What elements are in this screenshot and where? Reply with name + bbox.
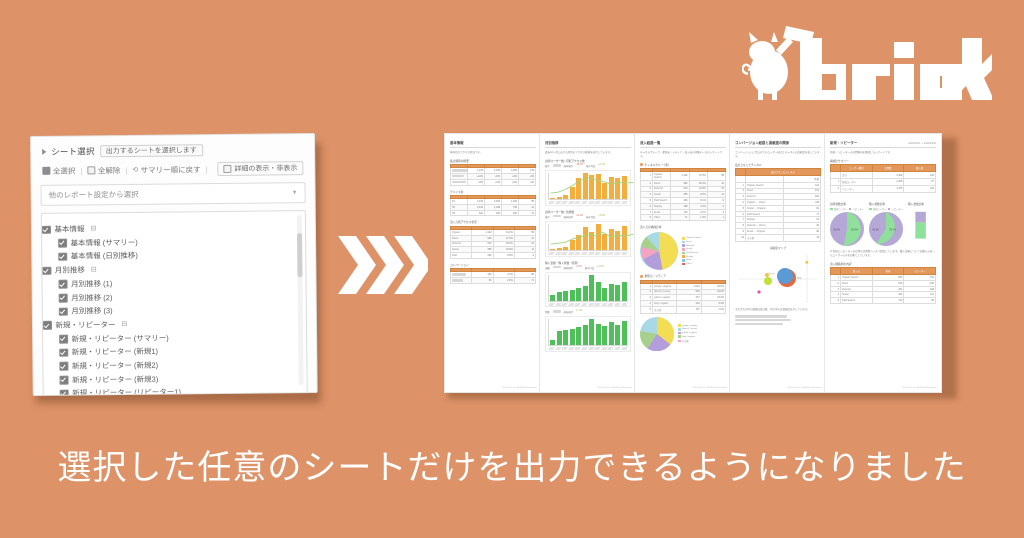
page-title: 月別推移 bbox=[545, 140, 559, 145]
svg-text:39.5%: 39.5% bbox=[833, 229, 841, 232]
svg-text:60.5%: 60.5% bbox=[851, 229, 859, 232]
legend-label: yahoo / organic bbox=[682, 332, 697, 334]
trend-line bbox=[549, 227, 637, 245]
cell: 2.8% bbox=[493, 278, 514, 284]
tree-checkbox[interactable] bbox=[58, 253, 67, 262]
cell: 1,375 bbox=[872, 185, 904, 192]
checkbox-empty-icon-2 bbox=[223, 165, 231, 173]
section-label: 貢献度マップ bbox=[735, 246, 821, 250]
report-page-3[interactable]: 流入経路一覧 チャネルグループ・参照元／メディア・流入元の詳細データのレポートで… bbox=[634, 133, 732, 393]
page-footer: 2022 brick Inc. All Rights Reserved. bbox=[902, 387, 937, 389]
checkbox-checked-icon bbox=[42, 167, 50, 175]
listbox-scrollbar-thumb[interactable] bbox=[297, 233, 302, 277]
tree-item-label: 新規・リピーター bbox=[55, 321, 115, 329]
tree-item-label: 新規・リピーター (新規2) bbox=[72, 362, 158, 370]
chart-channel-pie: Organic Search Direct Referral Social Pa… bbox=[640, 232, 726, 270]
section-label: 接点となったチャネル bbox=[735, 163, 821, 167]
bullet-dot-icon bbox=[640, 275, 643, 278]
pie-chart: 59.7% 40.3% bbox=[869, 212, 903, 246]
th: 接点となったチャネル bbox=[746, 169, 821, 176]
legend-item: Display bbox=[682, 255, 701, 258]
legend-label: Email bbox=[686, 259, 691, 261]
cell: 5 bbox=[641, 306, 653, 313]
legend-label: 新規ユーザー bbox=[834, 207, 847, 211]
cell: 1 bbox=[707, 215, 725, 221]
cell: 620 bbox=[468, 210, 485, 216]
cell: 12 bbox=[519, 210, 536, 216]
brick-logo bbox=[742, 22, 992, 114]
pie-chart bbox=[640, 317, 674, 351]
cell: 157 bbox=[677, 306, 701, 313]
legend-label: Paid Search bbox=[686, 252, 698, 254]
chart-monthly-new-users bbox=[545, 221, 631, 256]
chevron-down-icon: ▼ bbox=[292, 190, 298, 196]
chart-note: ※ 新規とリピーターの比率は訪問数ベースで算出しています。購入金額については購入… bbox=[830, 250, 936, 258]
th bbox=[831, 268, 841, 275]
page-lead: コンバージョンに至るまでのユーザー接点とチャネルの貢献度を表しています。 bbox=[735, 151, 821, 159]
tree-item-label: 月別推移 (3) bbox=[71, 307, 112, 315]
section-label: デバイス別 bbox=[450, 190, 536, 194]
data-table: 1203.4%88 962.8%71 bbox=[450, 268, 536, 284]
chart-buyer-ratio: 購入者数比率 新規ユーザーリピーター 59.7% 40.3% bbox=[869, 198, 904, 248]
tree-item-label: 月別推移 (1) bbox=[71, 280, 112, 288]
cell: 1 bbox=[831, 179, 841, 186]
legend-item: Social bbox=[682, 248, 701, 251]
legend-label: リピーター bbox=[892, 207, 903, 211]
section-label: 参照元／メディア bbox=[640, 274, 726, 278]
collapse-icon[interactable]: ⊟ bbox=[90, 226, 96, 233]
table-row: 件数 bbox=[736, 176, 821, 183]
legend-item: bing / organic bbox=[678, 335, 698, 338]
tree-item-label: 月別推移 bbox=[55, 267, 85, 275]
svg-text:59.7%: 59.7% bbox=[889, 229, 897, 232]
bullet-dot-icon bbox=[640, 163, 643, 166]
report-page-2[interactable]: 月別推移 過去12ヶ月における月別のアクセス推移を表示しています。 訪問ユーザー… bbox=[539, 133, 637, 393]
cell: 新規ユーザー bbox=[841, 179, 873, 186]
table-row: 合計3,480216 bbox=[831, 172, 936, 179]
data-table: Organic1,12234.2%58 Direct90527.6%41 Ref… bbox=[450, 226, 536, 259]
cell bbox=[451, 179, 468, 185]
tree-item-label: 基本情報 (サマリー) bbox=[71, 239, 138, 247]
collapse-icon[interactable]: ⊟ bbox=[91, 267, 97, 274]
cell: 8 bbox=[641, 215, 653, 221]
section-label: 集計期間の概要 bbox=[450, 159, 536, 163]
tree-item-label: 新規・リピーター (サマリー) bbox=[72, 334, 169, 343]
note-row bbox=[735, 319, 821, 321]
data-table: PC3,2102,0041,00355 SP2,1101,24574231 TB… bbox=[450, 195, 536, 216]
tree-checkbox[interactable] bbox=[60, 389, 69, 396]
chart-kpi-row: 前月前年同月-31.2%前々月比+4.5% bbox=[545, 215, 631, 219]
trend-line bbox=[549, 176, 637, 194]
section-label: コンバージョン bbox=[450, 263, 536, 267]
legend-item: Other bbox=[682, 263, 701, 266]
table-row: 10その他19 bbox=[736, 234, 821, 241]
tree-checkbox[interactable] bbox=[59, 348, 68, 357]
section-label: 購入金額・購入件数（月別） bbox=[545, 261, 631, 265]
section-label: 購入者数比率 bbox=[869, 202, 904, 206]
report-page-1[interactable]: 基本情報 基本的なアクセス状況です。 集計期間の概要 1,2342,3453,4… bbox=[444, 133, 542, 393]
svg-text:CVR 70%: CVR 70% bbox=[791, 277, 802, 280]
reset-order-link[interactable]: ⟳ サマリー順に戻す bbox=[132, 164, 200, 176]
legend-item: その他 bbox=[678, 339, 698, 343]
chart-contribution-bubble: CVR 70% Direct bbox=[735, 253, 821, 305]
page-header: 流入経路一覧 bbox=[640, 140, 726, 148]
tree-item-label: 基本情報 bbox=[54, 226, 84, 234]
report-preset-value: 他のレポート設定から選択 bbox=[49, 189, 139, 201]
th: 訪問数 bbox=[872, 165, 904, 172]
cell bbox=[831, 172, 841, 179]
note-row bbox=[735, 323, 821, 325]
deselect-all-label: 全解除 bbox=[98, 165, 121, 176]
note-row bbox=[735, 315, 821, 317]
chart-amount-ratio: 購入金額比率 bbox=[908, 198, 936, 248]
sheet-tree-listbox[interactable]: 基本情報 ⊟ 基本情報 (サマリー) 基本情報 (日別推移) 月別推移 bbox=[41, 210, 308, 396]
section-label: チャネルグループ別 bbox=[640, 163, 726, 167]
data-table: 流入元新規リピーター 1Organic Search862510 2Direct… bbox=[830, 267, 936, 304]
page-title: 新規・リピーター bbox=[830, 140, 857, 145]
chart-note: それぞれの円の面積は接点数、円の中心は貢献度を示しています。 bbox=[735, 308, 821, 312]
legend-item: (direct) / (none) bbox=[678, 328, 698, 331]
table-row: +5%+6%+9%-1% bbox=[451, 179, 536, 185]
section-label: 流入元別アクセス状況 bbox=[450, 220, 536, 224]
deselect-all-link[interactable]: 全解除 bbox=[87, 165, 120, 176]
collapse-icon[interactable]: ⊟ bbox=[121, 321, 127, 328]
data-table: 1Organic Search1,12237.5%58 2Direct90526… bbox=[640, 168, 726, 221]
th: 購入数 bbox=[904, 165, 936, 172]
tree-checkbox[interactable] bbox=[58, 239, 67, 248]
table-row: TB62033018012 bbox=[451, 210, 536, 216]
th: ユーザー種別 bbox=[841, 165, 873, 172]
cell: 71 bbox=[514, 278, 535, 284]
page-header: 月別推移 bbox=[545, 140, 631, 148]
cell: 3,480 bbox=[872, 172, 904, 179]
bar-plot bbox=[548, 275, 628, 302]
page-title: コンバージョン経路と貢献度の関係 bbox=[735, 140, 789, 145]
legend-item: Referral bbox=[682, 244, 701, 247]
panel-title-pill: 出力するシートを選択します bbox=[100, 144, 203, 157]
pie-chart bbox=[640, 232, 678, 270]
page-header: コンバージョン経路と貢献度の関係 bbox=[735, 140, 821, 148]
bar-plot bbox=[548, 319, 628, 346]
cell: 5 bbox=[831, 298, 841, 304]
section-label: 訪問ユーザー数 / 月別アクセス数 bbox=[545, 159, 631, 163]
cell: 87 bbox=[904, 179, 936, 186]
page-header: 新規・リピーター 2022/04/01 〜 2022/04/30 bbox=[830, 140, 936, 148]
select-all-link[interactable]: 全選択 bbox=[42, 165, 75, 176]
pie-chart-row: 訪問者数比率 新規ユーザーリピーター 60.5% 39.5% 購入者数比率 新規… bbox=[830, 198, 936, 248]
tree-checkbox[interactable] bbox=[42, 266, 51, 275]
x-axis-ticks bbox=[548, 346, 628, 349]
page-date-range: 2022/04/01 〜 2022/04/30 bbox=[908, 141, 936, 145]
cell: Organic Search bbox=[653, 172, 671, 181]
tree-item-label: 月別推移 (2) bbox=[71, 294, 112, 302]
sheet-selection-card: シート選択 出力するシートを選択します 全選択 | 全解除 | ⟳ bbox=[30, 133, 318, 396]
cell: 8.8% bbox=[493, 253, 514, 259]
cell bbox=[736, 176, 746, 183]
th: 新規 bbox=[872, 268, 904, 275]
bar-plot bbox=[548, 224, 628, 251]
cell: 1,122 bbox=[671, 172, 689, 181]
cell: 180 bbox=[502, 210, 519, 216]
legend-item: google / organic bbox=[678, 324, 698, 327]
page-lead: 過去12ヶ月における月別のアクセス推移を表示しています。 bbox=[545, 151, 631, 155]
cell: 290 bbox=[472, 253, 493, 259]
section-label: 訪問ユーザー数 / 新規数 bbox=[545, 210, 631, 214]
cell: 9 bbox=[514, 253, 535, 259]
bullet-icon bbox=[42, 149, 46, 155]
bar-plot bbox=[548, 173, 628, 200]
table-row: 5Paid Search17096 bbox=[831, 298, 936, 304]
tree-checkbox[interactable] bbox=[59, 362, 68, 371]
legend-label: Direct bbox=[686, 241, 692, 243]
slide-caption: 選択した任意のシートだけを出力できるようになりました bbox=[0, 440, 1024, 489]
cell: Other bbox=[653, 215, 671, 221]
legend-label: リピーター bbox=[853, 207, 864, 211]
report-page-5[interactable]: 新規・リピーター 2022/04/01 〜 2022/04/30 新規／リピータ… bbox=[824, 133, 942, 393]
svg-text:40.3%: 40.3% bbox=[872, 229, 880, 232]
table-row: 8Other711.3%1 bbox=[641, 215, 726, 221]
chart-kpi-row: 金額前年同月-2.8%前々月比+3.9% bbox=[545, 266, 631, 270]
th: リピーター bbox=[904, 268, 936, 275]
select-all-label: 全選択 bbox=[53, 165, 76, 176]
tree-checkbox[interactable] bbox=[60, 376, 69, 385]
cell bbox=[451, 278, 472, 284]
cell: +5% bbox=[468, 179, 485, 185]
x-axis-ticks bbox=[548, 200, 628, 203]
legend-label: Referral bbox=[686, 245, 694, 247]
x-axis-ticks bbox=[548, 302, 628, 305]
tree-item-label: 新規・リピーター (新規1) bbox=[72, 348, 158, 356]
legend-label: google / organic bbox=[682, 325, 698, 327]
tree-checkbox[interactable] bbox=[42, 225, 51, 234]
tree-checkbox[interactable] bbox=[59, 294, 68, 303]
table-row: 962.8%71 bbox=[451, 278, 536, 284]
legend-item: Email bbox=[682, 259, 701, 262]
data-table: 1google / organic1,01045.0% 2(direct) / … bbox=[640, 280, 726, 314]
cell: 19 bbox=[783, 234, 821, 241]
legend-label: (direct) / (none) bbox=[682, 328, 697, 330]
tree-checkbox[interactable] bbox=[59, 335, 68, 344]
legend-label: Organic Search bbox=[686, 237, 701, 239]
cell: 96 bbox=[904, 298, 936, 304]
th: 流入元 bbox=[841, 268, 873, 275]
cell: 170 bbox=[872, 298, 904, 304]
pie-legend: 新規ユーザーリピーター bbox=[830, 207, 865, 211]
report-pages-stack: 基本情報 基本的なアクセス状況です。 集計期間の概要 1,2342,3453,4… bbox=[444, 133, 954, 395]
chart-monthly-access bbox=[545, 170, 631, 205]
svg-text:Direct: Direct bbox=[769, 272, 775, 275]
legend-label: bing / organic bbox=[682, 336, 695, 338]
slide-stage: シート選択 出力するシートを選択します 全選択 | 全解除 | ⟳ bbox=[0, 0, 1024, 538]
pie-chart: 60.5% 39.5% bbox=[830, 212, 864, 246]
legend-item: Organic Search bbox=[682, 237, 701, 240]
legend-label: Social bbox=[686, 248, 692, 250]
toggle-detail-button[interactable]: 詳細の表示・非表示 bbox=[217, 161, 303, 176]
cell: TB bbox=[451, 210, 468, 216]
toggle-detail-label: 詳細の表示・非表示 bbox=[234, 165, 297, 173]
page-footer: 2022 brick Inc. All Rights Reserved. bbox=[787, 387, 822, 389]
cell: 96 bbox=[472, 278, 493, 284]
stacked-bar-chart bbox=[908, 207, 934, 241]
tree-checkbox[interactable] bbox=[59, 280, 68, 289]
legend-item: Direct bbox=[682, 241, 701, 244]
cell: その他 bbox=[653, 306, 677, 313]
chart-visitor-ratio: 訪問者数比率 新規ユーザーリピーター 60.5% 39.5% bbox=[830, 198, 865, 248]
table-row: 2リピーター1,375129 bbox=[831, 185, 936, 192]
tree-item-label: 新規・リピーター (新規3) bbox=[72, 375, 158, 383]
panel-title: シート選択 bbox=[51, 145, 95, 157]
cell: 1.3% bbox=[689, 215, 707, 221]
pie-legend: google / organic (direct) / (none) yahoo… bbox=[678, 324, 698, 343]
reset-order-label: サマリー順に戻す bbox=[141, 164, 201, 176]
page-footer: 2022 brick Inc. All Rights Reserved. bbox=[692, 387, 727, 389]
pie-legend: Organic Search Direct Referral Social Pa… bbox=[682, 237, 701, 265]
bubble-chart: CVR 70% Direct bbox=[735, 253, 821, 305]
chart-kpi-row: 前月前年同月-18.3%前々月比+6.1% bbox=[545, 164, 631, 168]
report-preset-select[interactable]: 他のレポート設定から選択 ▼ bbox=[41, 182, 306, 206]
checkbox-empty-icon bbox=[87, 166, 95, 174]
page-footer: 2022 brick Inc. All Rights Reserved. bbox=[502, 387, 537, 389]
section-label: 訪問者数比率 bbox=[830, 202, 865, 206]
table-row: 1Organic Search1,12237.5%58 bbox=[641, 172, 726, 181]
page-lead: チャネルグループ・参照元／メディア・流入元の詳細データのレポートです。 bbox=[640, 151, 726, 159]
legend-item: yahoo / organic bbox=[678, 332, 698, 335]
legend-label: Display bbox=[686, 256, 693, 258]
data-table: 1,2342,3453,456145 +12%+8%+4%-2% +5%+6%+… bbox=[450, 164, 536, 185]
cell: その他 bbox=[746, 234, 784, 241]
cell: 2 bbox=[831, 185, 841, 192]
cell: 7.0% bbox=[701, 306, 725, 313]
cell: 330 bbox=[485, 210, 502, 216]
cell: 129 bbox=[904, 185, 936, 192]
cell bbox=[746, 176, 784, 183]
page-lead: 新規／リピーターの訪問傾向を整理したレポートです。 bbox=[830, 151, 936, 155]
page-lead: 基本的なアクセス状況です。 bbox=[450, 151, 536, 155]
data-table: ユーザー種別訪問数購入数 合計3,480216 1新規ユーザー2,10587 2… bbox=[830, 164, 936, 192]
chart-kpi-row: 件数前年同月+7.4% bbox=[545, 310, 631, 314]
cell: 件数 bbox=[783, 176, 821, 183]
section-text: チャネルグループ別 bbox=[645, 163, 669, 167]
data-table: 接点となったチャネル 件数 1Organic Search312 2Direct… bbox=[735, 168, 821, 242]
legend-item: Paid Search bbox=[682, 252, 701, 255]
cell: +9% bbox=[502, 179, 519, 185]
cell: 1 bbox=[641, 172, 653, 181]
legend-label: その他 bbox=[682, 339, 689, 343]
tree-item-label: 基本情報 (日別推移) bbox=[71, 252, 138, 260]
tree-checkbox[interactable] bbox=[59, 307, 68, 316]
section-label: 流入経路別の内訳 bbox=[830, 262, 936, 266]
legend-label: Other bbox=[686, 263, 691, 265]
section-label: 購入金額比率 bbox=[908, 202, 936, 206]
link-separator: | bbox=[80, 166, 82, 175]
panel-header: シート選択 出力するシートを選択します bbox=[42, 143, 305, 158]
page-header: 基本情報 bbox=[450, 140, 536, 148]
cell: Paid Search bbox=[841, 298, 873, 304]
x-axis-ticks bbox=[548, 251, 628, 254]
triple-chevron-right-icon bbox=[336, 232, 428, 298]
tree-checkbox[interactable] bbox=[43, 321, 52, 330]
table-row: 1新規ユーザー2,10587 bbox=[831, 179, 936, 186]
pie-legend: 新規ユーザーリピーター bbox=[869, 207, 904, 211]
chart-monthly-amount bbox=[545, 272, 631, 307]
table-row: 5その他1577.0% bbox=[641, 306, 726, 313]
th bbox=[736, 169, 746, 176]
chart-source-pie: google / organic (direct) / (none) yahoo… bbox=[640, 317, 726, 351]
section-label: 構成比サマリー bbox=[830, 159, 936, 163]
page-title: 基本情報 bbox=[450, 140, 464, 145]
cell: 合計 bbox=[841, 172, 873, 179]
cell: 37.5% bbox=[689, 172, 707, 181]
chart-monthly-orders bbox=[545, 316, 631, 351]
page-footer: 2022 brick Inc. All Rights Reserved. bbox=[597, 387, 632, 389]
report-page-4[interactable]: コンバージョン経路と貢献度の関係 コンバージョンに至るまでのユーザー接点とチャネ… bbox=[729, 133, 827, 393]
page-title: 流入経路一覧 bbox=[640, 140, 660, 145]
section-text: 参照元／メディア bbox=[645, 274, 666, 278]
link-separator-2: | bbox=[125, 165, 127, 174]
cell: 10 bbox=[736, 234, 746, 241]
legend-label: 新規ユーザー bbox=[873, 207, 886, 211]
sheet-selection-panel: シート選択 出力するシートを選択します 全選択 | 全解除 | ⟳ bbox=[30, 136, 320, 401]
th bbox=[831, 165, 841, 172]
cell: Paid bbox=[451, 253, 472, 259]
cell: 2,105 bbox=[872, 179, 904, 186]
cell: -1% bbox=[519, 179, 536, 185]
section-label: 流入元の構成比率 bbox=[640, 225, 726, 229]
refresh-icon: ⟳ bbox=[132, 166, 138, 174]
cell: リピーター bbox=[841, 185, 873, 192]
panel-action-links: 全選択 | 全解除 | ⟳ サマリー順に戻す | bbox=[42, 161, 305, 178]
cell: 216 bbox=[904, 172, 936, 179]
cell: 58 bbox=[707, 172, 725, 181]
cell: 71 bbox=[671, 215, 689, 221]
table-row: Paid2908.8%9 bbox=[451, 253, 536, 259]
link-separator-3: | bbox=[206, 165, 208, 174]
cell: +6% bbox=[485, 179, 502, 185]
